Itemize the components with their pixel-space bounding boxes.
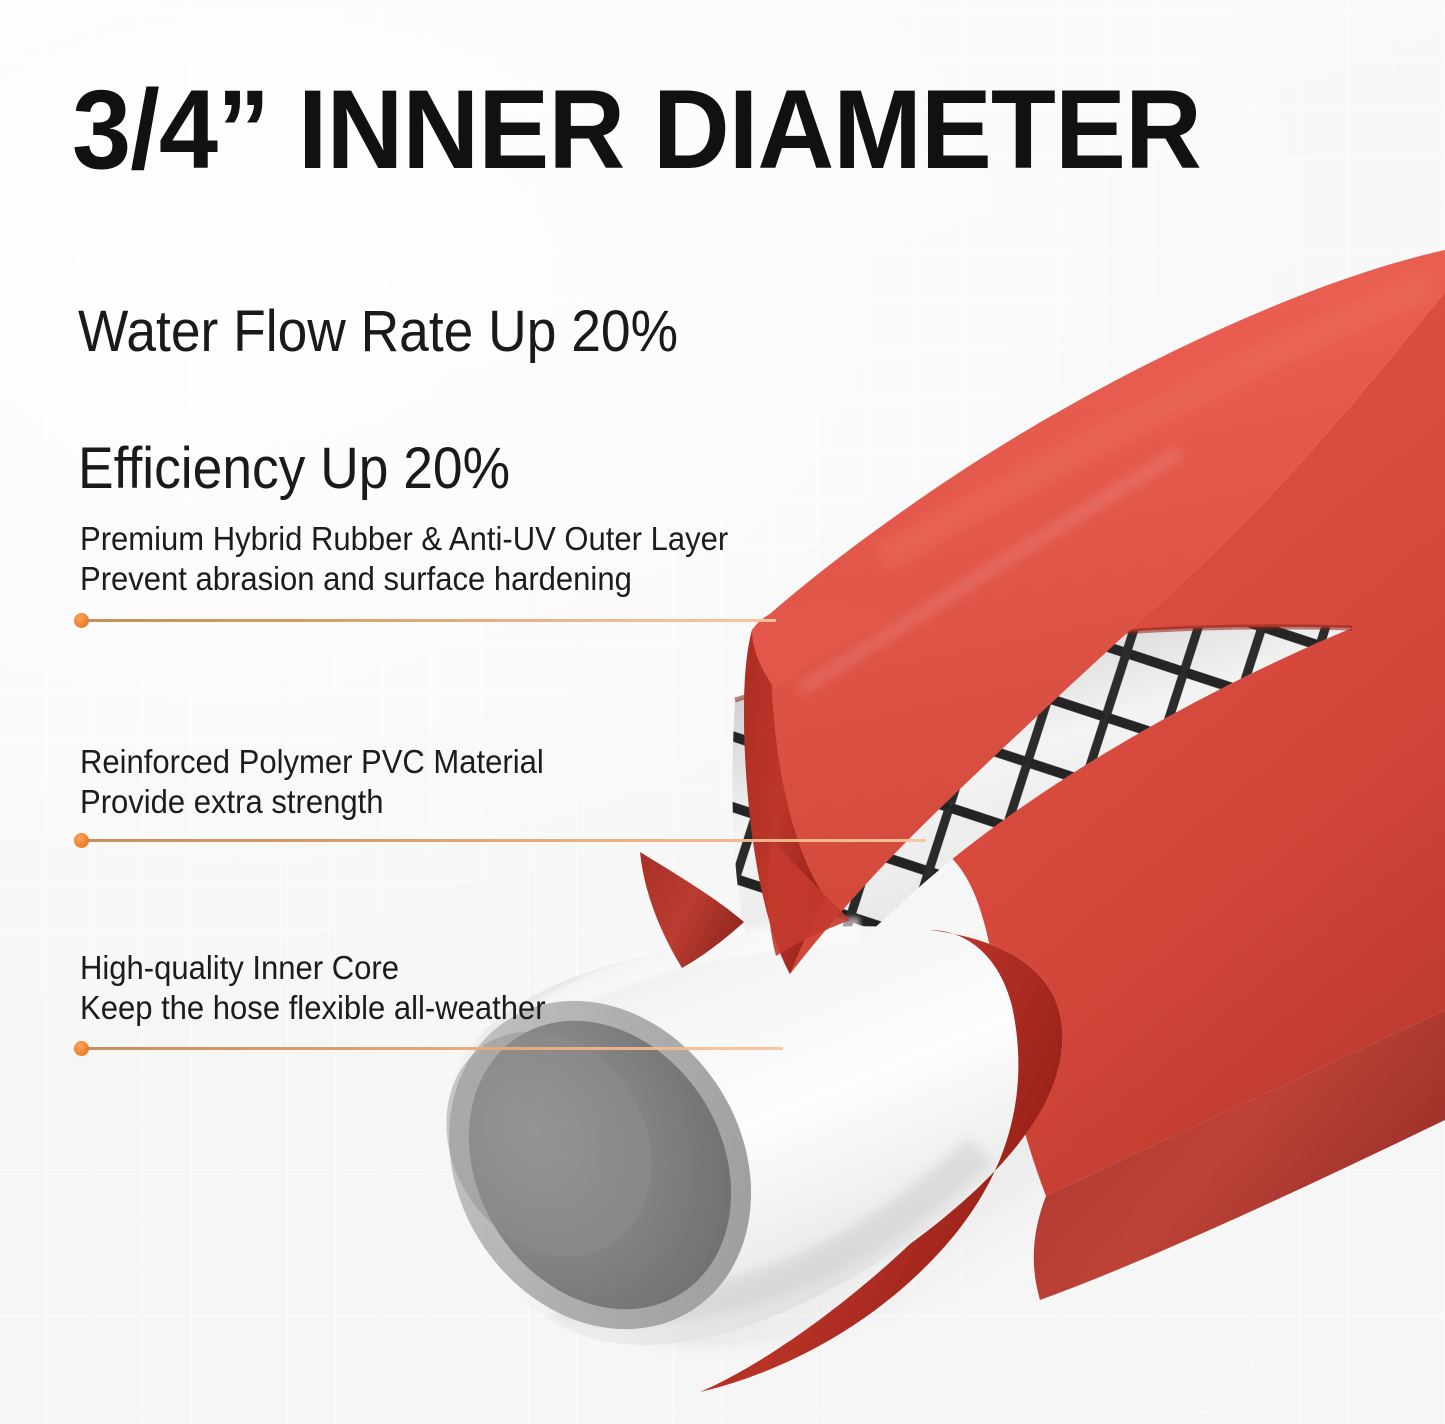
callout-title: Premium Hybrid Rubber & Anti-UV Outer La…	[80, 519, 728, 559]
page-title: 3/4” INNER DIAMETER	[72, 74, 1201, 186]
callout-subtitle: Provide extra strength	[80, 782, 544, 822]
callout-subtitle: Prevent abrasion and surface hardening	[80, 559, 728, 599]
callout-outer-layer: Premium Hybrid Rubber & Anti-UV Outer La…	[80, 519, 770, 600]
graph-paper-background	[0, 0, 1445, 1424]
infographic-canvas: 3/4” INNER DIAMETER Water Flow Rate Up 2…	[0, 0, 1445, 1424]
callout-inner-core: High-quality Inner Core Keep the hose fl…	[80, 948, 575, 1029]
leader-stroke	[86, 839, 926, 842]
leader-stroke	[86, 619, 776, 622]
callout-title: Reinforced Polymer PVC Material	[80, 742, 544, 782]
callout-pvc-material: Reinforced Polymer PVC Material Provide …	[80, 742, 573, 823]
callout-subtitle: Keep the hose flexible all-weather	[80, 988, 546, 1028]
subtitle-line-1: Water Flow Rate Up 20%	[78, 298, 678, 366]
leader-stroke	[86, 1047, 783, 1050]
subtitle-line-2: Efficiency Up 20%	[78, 435, 678, 503]
callout-title: High-quality Inner Core	[80, 948, 546, 988]
